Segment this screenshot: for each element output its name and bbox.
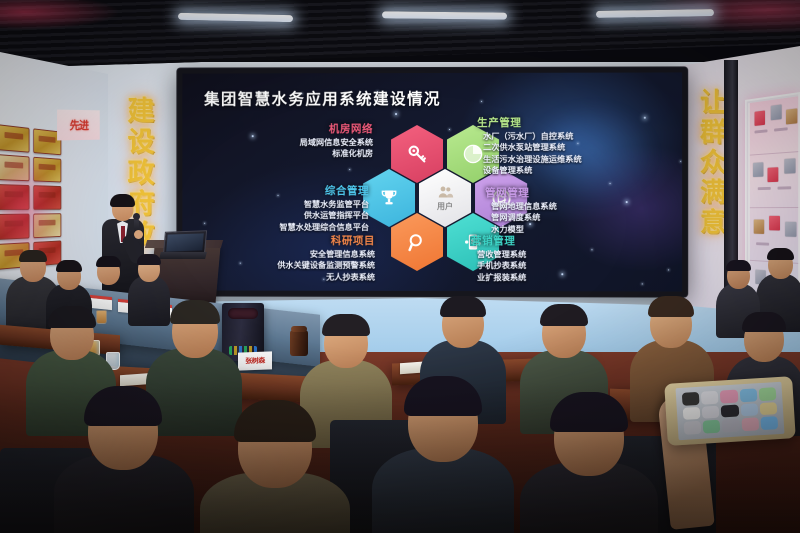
app-icon[interactable] [720,390,738,404]
block-item: 安全管理信息系统 [210,249,375,261]
app-icon[interactable] [739,388,757,402]
app-icon[interactable] [741,418,759,432]
block-heading: 生产管理 [477,115,678,130]
hex-key[interactable] [391,125,443,183]
block-item: 二次供水泵站管理系统 [477,142,678,153]
app-icon[interactable] [721,404,739,418]
block-heading: 管网管理 [485,185,676,200]
timeline-caption [777,186,791,189]
ceiling-glow-right [640,0,800,34]
app-icon[interactable] [722,419,740,433]
block-item: 管网调度系统 [485,212,676,223]
timeline-thumb [784,158,795,173]
timeline-caption [774,127,788,131]
block-item: 手机抄表系统 [471,260,662,272]
timeline-thumb [755,110,765,126]
block-item: 标准化机房 [218,148,373,159]
hex-center-label: 用户 [437,201,453,212]
block-item: 生活污水治理设施运维系统 [477,153,678,164]
timeline-row [750,152,800,208]
block-item: 供水关键设备监测预警系统 [210,260,375,272]
smartphone[interactable] [664,376,796,446]
block-item: 设备管理系统 [477,165,678,176]
app-icon[interactable] [683,406,701,420]
app-icon[interactable] [759,402,777,416]
app-icon[interactable] [760,416,778,430]
presenter-hand [134,230,143,239]
key-icon [406,143,428,165]
block-item: 局域网信息安全系统 [218,137,373,148]
block-heading: 科研项目 [210,233,375,248]
ceiling-glow-left [0,0,120,30]
audience-person [200,406,350,533]
presentation-screen[interactable]: 集团智慧水务应用系统建设情况 [177,67,687,296]
block-item: 管网地理信息系统 [485,201,676,212]
block-item: 智慧水处理综合信息平台 [196,221,369,232]
slide-block-guanwang: 管网管理 管网地理信息系统 管网调度系统 水力模型 [485,185,676,235]
slide-block-keyan: 科研项目 安全管理信息系统 供水关键设备监测预警系统 无人抄表系统 [210,233,375,283]
left-banner-text: 先进 [70,117,89,133]
timeline-caption [758,187,771,190]
app-icon[interactable] [740,403,758,417]
left-red-banner: 先进 [57,110,100,141]
app-icon[interactable] [703,420,721,434]
timeline-thumb [754,219,764,233]
slide-block-yingxiao: 营销管理 营收管理系统 手机抄表系统 业扩报装系统 [471,233,662,283]
block-heading: 综合管理 [196,183,369,198]
timeline-thumb [771,104,782,120]
timeline-thumb [785,222,796,237]
trophy-icon [379,188,399,208]
timeline-caption [756,242,769,245]
hex-magnifier[interactable] [391,213,443,271]
timeline-caption [755,129,768,133]
timeline-row [750,96,800,156]
timeline-thumb [767,167,778,182]
block-item: 供水运管指挥平台 [196,210,369,221]
magnifier-icon [407,231,428,252]
phone-screen[interactable] [676,382,785,440]
hex-users-center[interactable]: 用户 [419,169,471,227]
app-icon[interactable] [758,387,776,401]
timeline-thumb [753,162,763,177]
block-item: 智慧水务监管平台 [196,199,369,210]
users-icon [436,185,453,200]
app-icon[interactable] [682,392,700,406]
presenter-hair [110,194,135,207]
slide-block-jifang: 机房网络 局域网信息安全系统 标准化机房 [218,121,373,160]
block-heading: 机房网络 [218,121,373,136]
block-heading: 营销管理 [471,233,662,248]
app-icon[interactable] [701,391,719,405]
slide-block-shengchan: 生产管理 水厂（污水厂）自控系统 二次供水泵站管理系统 生活污水治理设施运维系统… [477,115,678,177]
audience-person [520,398,658,533]
app-icon[interactable] [684,421,702,435]
block-item: 水厂（污水厂）自控系统 [477,131,678,143]
audience-person [54,392,194,533]
block-item: 营收管理系统 [471,249,662,261]
wall-calligraphy-right: 让群众满意 [697,88,724,238]
timeline-thumb [769,216,780,231]
block-item: 无人抄表系统 [210,271,375,283]
slide-title: 集团智慧水务应用系统建设情况 [204,87,441,109]
screen-surface: 集团智慧水务应用系统建设情况 [182,72,682,291]
name-card-text: 张树森 [245,356,265,367]
app-icon[interactable] [702,405,720,419]
slide-block-zonghe: 综合管理 智慧水务监管平台 供水运管指挥平台 智慧水处理综合信息平台 [196,183,369,233]
audience-person [372,382,514,533]
conference-room-scene: 先进 建设政府放心 让群众满意 [0,0,800,533]
table-name-card: 张树森 [238,351,272,370]
award-plaque [0,124,29,152]
timeline-thumb [786,108,797,124]
block-item: 业扩报装系统 [471,272,662,284]
ceiling-light-2 [382,11,507,19]
